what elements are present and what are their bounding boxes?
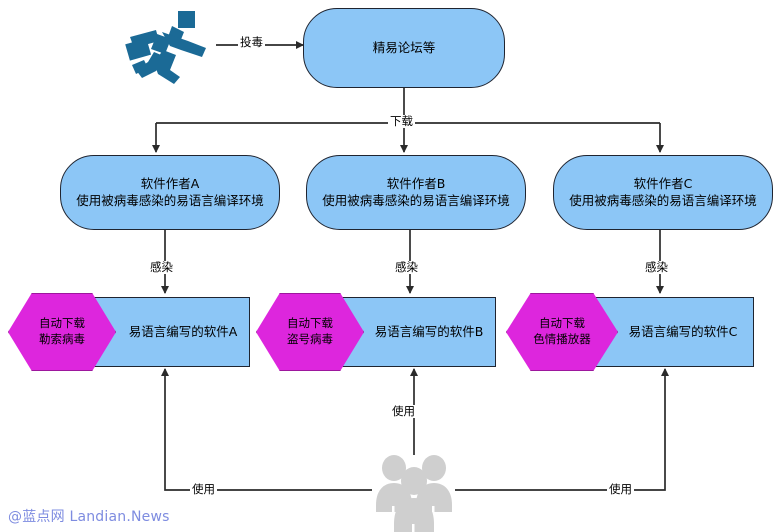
edge-label-infect-c: 感染 — [643, 261, 670, 274]
node-software-c-label: 易语言编写的软件C — [629, 324, 738, 341]
edge-label-download: 下载 — [388, 115, 415, 128]
edge-label-use-left: 使用 — [190, 483, 217, 496]
payload-account-stealer-line2: 盗号病毒 — [287, 332, 333, 348]
node-software-b-label: 易语言编写的软件B — [375, 324, 484, 341]
group-of-people-icon — [372, 452, 456, 532]
watermark: @蓝点网 Landian.News — [8, 506, 170, 526]
edge-label-use-middle: 使用 — [390, 405, 417, 418]
edge-label-poison: 投毒 — [238, 36, 265, 49]
payload-account-stealer-line1: 自动下载 — [287, 316, 333, 332]
node-author-c-line2: 使用被病毒感染的易语言编译环境 — [569, 193, 757, 210]
node-forum-label: 精易论坛等 — [373, 40, 436, 57]
edge-label-use-right: 使用 — [607, 483, 634, 496]
node-author-c[interactable]: 软件作者C 使用被病毒感染的易语言编译环境 — [553, 155, 773, 230]
edge-label-infect-a: 感染 — [148, 261, 175, 274]
node-author-a[interactable]: 软件作者A 使用被病毒感染的易语言编译环境 — [60, 155, 280, 230]
diagram-canvas: 精易论坛等 投毒 下载 软件作者A 使用被病毒感染的易语言编译环境 软件作者B … — [0, 0, 776, 532]
payload-ransomware-line2: 勒索病毒 — [39, 332, 85, 348]
node-author-a-line1: 软件作者A — [141, 176, 200, 193]
payload-porn-player-line2: 色情播放器 — [533, 332, 591, 348]
node-author-c-line1: 软件作者C — [634, 176, 693, 193]
node-author-a-line2: 使用被病毒感染的易语言编译环境 — [76, 193, 264, 210]
running-man-with-briefcase-icon — [118, 8, 218, 84]
payload-ransomware-line1: 自动下载 — [39, 316, 85, 332]
node-software-a-label: 易语言编写的软件A — [129, 324, 238, 341]
edge-label-infect-b: 感染 — [393, 261, 420, 274]
node-author-b-line1: 软件作者B — [387, 176, 446, 193]
payload-porn-player-line1: 自动下载 — [539, 316, 585, 332]
node-author-b-line2: 使用被病毒感染的易语言编译环境 — [322, 193, 510, 210]
node-author-b[interactable]: 软件作者B 使用被病毒感染的易语言编译环境 — [306, 155, 526, 230]
node-forum[interactable]: 精易论坛等 — [303, 8, 505, 88]
